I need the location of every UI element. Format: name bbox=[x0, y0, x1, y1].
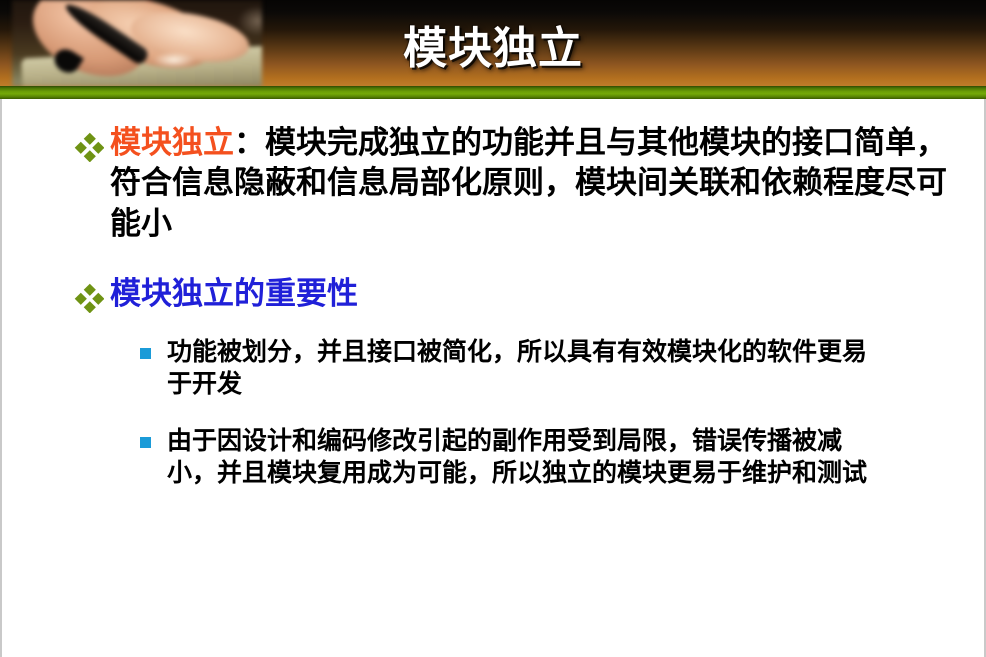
square-bullet-icon bbox=[140, 437, 151, 448]
slide-title: 模块独立 bbox=[0, 0, 986, 87]
header-green-divider bbox=[0, 86, 986, 99]
slide-body: 模块独立：模块完成独立的功能并且与其他模块的接口简单，符合信息隐蔽和信息局部化原… bbox=[0, 99, 986, 657]
bullet-2-highlight: 模块独立的重要性 bbox=[110, 276, 358, 312]
bullet-item-2: 模块独立的重要性 bbox=[74, 274, 974, 314]
bullet-1-text: 模块独立：模块完成独立的功能并且与其他模块的接口简单，符合信息隐蔽和信息局部化原… bbox=[110, 123, 974, 244]
square-bullet-icon bbox=[140, 348, 151, 359]
slide-content: 模块独立：模块完成独立的功能并且与其他模块的接口简单，符合信息隐蔽和信息局部化原… bbox=[2, 99, 984, 488]
diamond-cluster-bullet-icon bbox=[74, 132, 104, 162]
bullet-1-highlight: 模块独立 bbox=[110, 125, 234, 161]
sub-bullet-item-1: 功能被划分，并且接口被简化，所以具有有效模块化的软件更易于开发 bbox=[140, 336, 974, 399]
sub-bullet-1-text: 功能被划分，并且接口被简化，所以具有有效模块化的软件更易于开发 bbox=[167, 336, 867, 399]
bullet-1-body: ：模块完成独立的功能并且与其他模块的接口简单，符合信息隐蔽和信息局部化原则，模块… bbox=[110, 125, 947, 242]
slide-header-banner: 模块独立 bbox=[0, 0, 986, 99]
slide: 模块独立 模块独立：模块完成独立的功能 bbox=[0, 0, 986, 657]
sub-bullet-item-2: 由于因设计和编码修改引起的副作用受到局限，错误传播被减小，并且模块复用成为可能，… bbox=[140, 425, 974, 488]
diamond-cluster-bullet-icon bbox=[74, 283, 104, 313]
bullet-item-1: 模块独立：模块完成独立的功能并且与其他模块的接口简单，符合信息隐蔽和信息局部化原… bbox=[74, 123, 974, 244]
sub-bullet-2-text: 由于因设计和编码修改引起的副作用受到局限，错误传播被减小，并且模块复用成为可能，… bbox=[167, 425, 867, 488]
bullet-2-text: 模块独立的重要性 bbox=[110, 274, 358, 314]
sub-bullet-list: 功能被划分，并且接口被简化，所以具有有效模块化的软件更易于开发 由于因设计和编码… bbox=[12, 336, 974, 488]
